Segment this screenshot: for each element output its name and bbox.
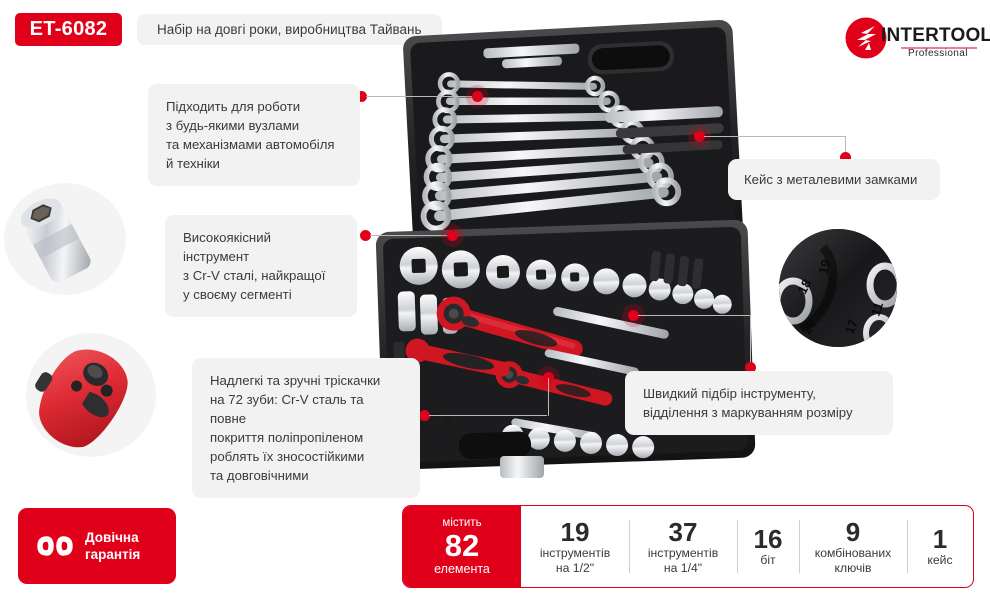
warranty-label: Довічна гарантія [85, 529, 140, 563]
stat-number: 19 [561, 518, 590, 546]
stat-total-elements: містить 82 елемента [403, 506, 521, 587]
stat-number: 1 [933, 525, 947, 553]
stat-item-1: 37 інструментів на 1/4" [629, 506, 737, 587]
stat-total-number: 82 [445, 530, 479, 562]
stat-number: 16 [754, 525, 783, 553]
chrome-socket-photo [4, 183, 126, 295]
callout-crv-steel-quality: Високоякісний інструмент з Cr-V сталі, н… [165, 215, 357, 317]
connector-line-c5-horiz [638, 315, 750, 316]
product-code-badge: ET-6082 [15, 13, 122, 46]
connector-dot-c1-end [472, 91, 483, 102]
red-ratchet-handle-photo [26, 333, 156, 457]
connector-line-c4-vert [845, 136, 846, 153]
connector-line-c2 [370, 235, 450, 236]
stat-item-0: 19 інструментів на 1/2" [521, 506, 629, 587]
stat-label: кейс [927, 553, 952, 568]
callout-size-marking: Швидкий підбір інструменту, відділення з… [625, 371, 893, 435]
connector-line-c4-horiz [704, 136, 845, 137]
connector-line-c3-vert [548, 378, 549, 416]
stat-total-suffix: елемента [434, 562, 490, 577]
stat-item-3: 9 комбінованих ключів [799, 506, 907, 587]
specs-stats-bar: містить 82 елемента 19 інструментів на 1… [402, 505, 974, 588]
stat-label: комбінованих ключів [815, 546, 891, 576]
stat-item-2: 16 біт [737, 506, 799, 587]
stat-number: 37 [669, 518, 698, 546]
connector-line-c1 [366, 96, 476, 97]
case-size-marking-closeup-photo: 19 18 20 17 11 [779, 229, 897, 347]
stat-label: інструментів на 1/4" [648, 546, 718, 576]
stat-number: 9 [846, 518, 860, 546]
stat-label: інструментів на 1/2" [540, 546, 610, 576]
lifetime-warranty-badge: Довічна гарантія [18, 508, 176, 584]
stat-label: біт [760, 553, 775, 568]
logo-subtitle: Professional [908, 48, 968, 59]
callout-work-compatibility: Підходить для роботи з будь-якими вузлам… [148, 84, 360, 186]
stat-item-4: 1 кейс [907, 506, 973, 587]
infinity-icon [36, 535, 74, 557]
connector-dot-c2-end [447, 230, 458, 241]
callout-ratchets-72-teeth: Надлегкі та зручні тріскачки на 72 зуби:… [192, 358, 420, 498]
connector-line-c3 [429, 415, 547, 416]
brand-logo: INTERTOOL Professional [845, 16, 977, 66]
callout-metal-locks-case: Кейс з металевими замками [728, 159, 940, 200]
connector-line-c5-vert [750, 315, 751, 363]
logo-wordmark: INTERTOOL [881, 25, 990, 47]
